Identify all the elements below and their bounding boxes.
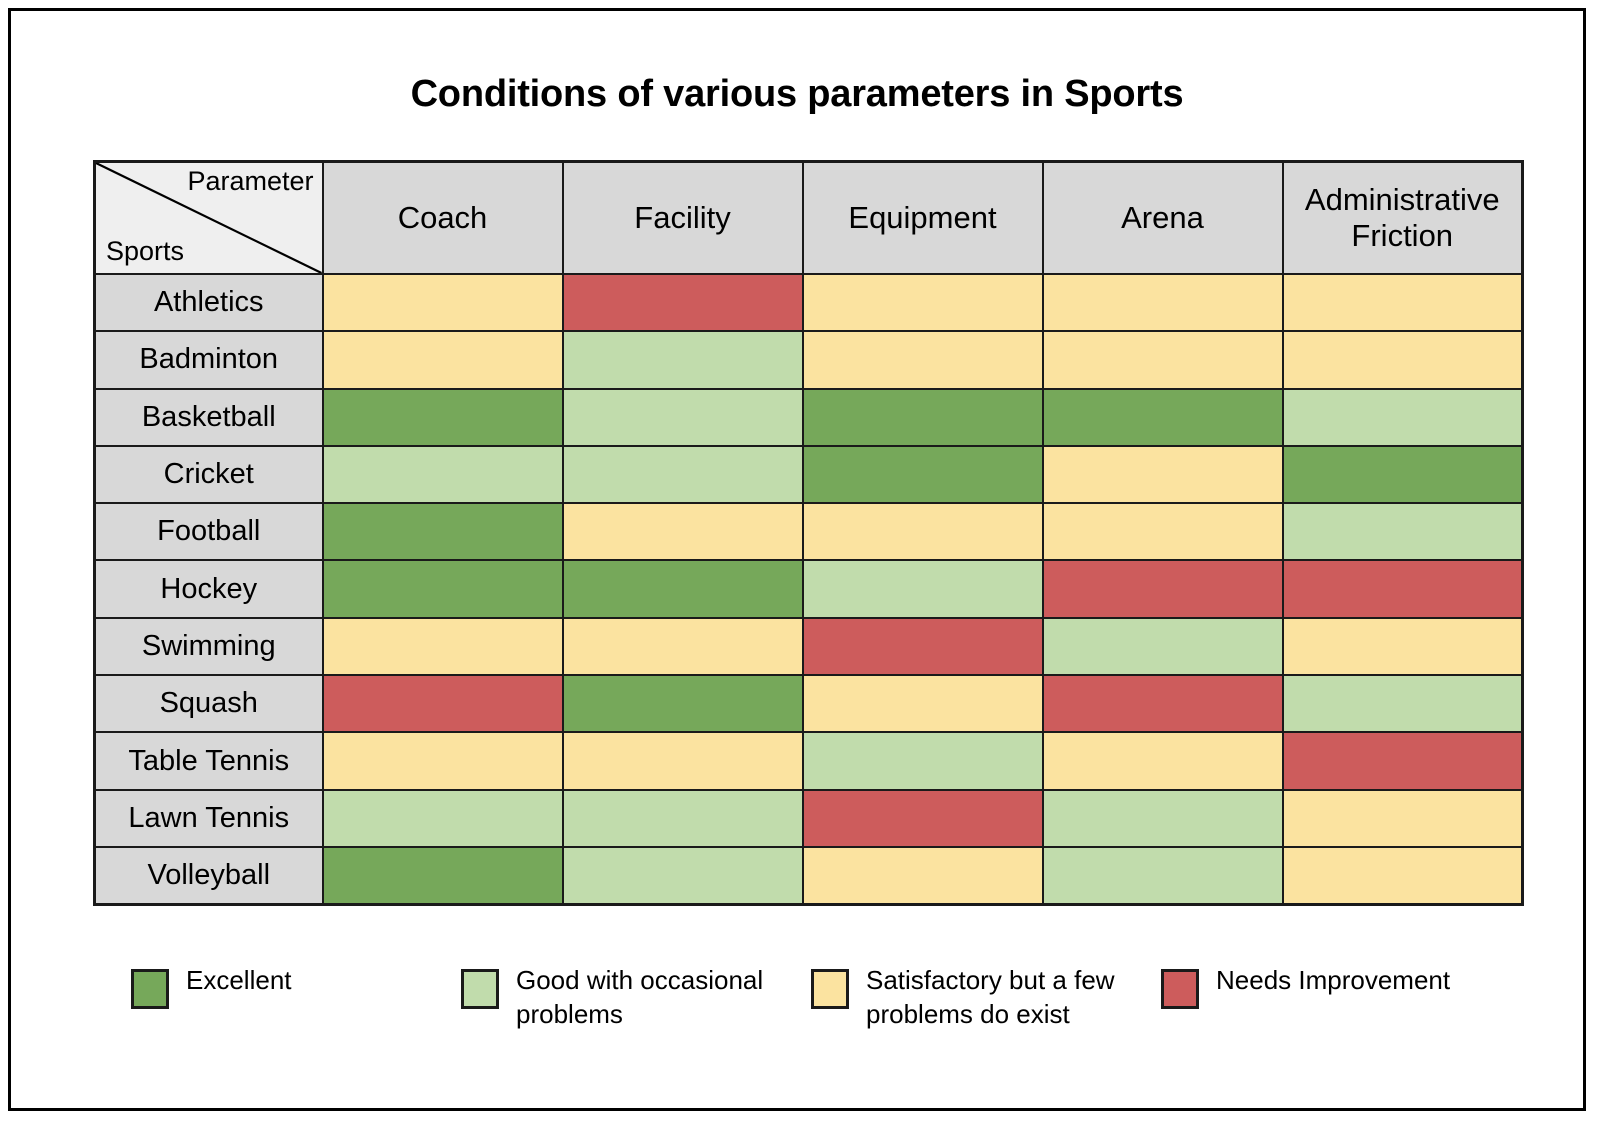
matrix-cell <box>323 732 563 789</box>
table-row: Basketball <box>95 389 1523 446</box>
column-header-coach: Coach <box>323 162 563 275</box>
conditions-matrix: Parameter Sports CoachFacilityEquipmentA… <box>93 160 1524 906</box>
row-header-basketball: Basketball <box>95 389 323 446</box>
matrix-cell <box>563 732 803 789</box>
matrix-container: Parameter Sports CoachFacilityEquipmentA… <box>93 160 1521 906</box>
row-header-hockey: Hockey <box>95 560 323 617</box>
matrix-cell <box>1043 389 1283 446</box>
column-header-facility: Facility <box>563 162 803 275</box>
matrix-cell <box>1043 446 1283 503</box>
row-header-football: Football <box>95 503 323 560</box>
legend-swatch-good <box>461 969 499 1009</box>
matrix-cell <box>803 389 1043 446</box>
table-row: Badminton <box>95 331 1523 388</box>
matrix-cell <box>323 790 563 847</box>
matrix-cell <box>563 446 803 503</box>
matrix-cell <box>1283 503 1523 560</box>
matrix-cell <box>1283 274 1523 331</box>
matrix-cell <box>323 503 563 560</box>
matrix-cell <box>803 618 1043 675</box>
matrix-cell <box>563 389 803 446</box>
page-frame: Conditions of various parameters in Spor… <box>8 8 1586 1111</box>
matrix-cell <box>563 560 803 617</box>
legend-label-needs: Needs Improvement <box>1216 963 1450 997</box>
matrix-cell <box>1283 446 1523 503</box>
matrix-cell <box>803 331 1043 388</box>
matrix-cell <box>323 618 563 675</box>
matrix-cell <box>323 446 563 503</box>
legend-swatch-needs <box>1161 969 1199 1009</box>
matrix-cell <box>803 675 1043 732</box>
row-header-badminton: Badminton <box>95 331 323 388</box>
table-row: Table Tennis <box>95 732 1523 789</box>
matrix-cell <box>1283 560 1523 617</box>
matrix-cell <box>323 389 563 446</box>
matrix-cell <box>563 618 803 675</box>
matrix-cell <box>323 847 563 905</box>
matrix-cell <box>803 446 1043 503</box>
table-row: Swimming <box>95 618 1523 675</box>
legend: ExcellentGood with occasional problemsSa… <box>131 963 1531 1032</box>
legend-swatch-excellent <box>131 969 169 1009</box>
matrix-cell <box>563 675 803 732</box>
matrix-cell <box>323 675 563 732</box>
matrix-header-row: Parameter Sports CoachFacilityEquipmentA… <box>95 162 1523 275</box>
matrix-cell <box>563 503 803 560</box>
matrix-cell <box>803 560 1043 617</box>
matrix-cell <box>1283 331 1523 388</box>
matrix-cell <box>323 560 563 617</box>
matrix-cell <box>1043 675 1283 732</box>
matrix-cell <box>323 331 563 388</box>
row-header-squash: Squash <box>95 675 323 732</box>
matrix-cell <box>1283 790 1523 847</box>
matrix-cell <box>1043 790 1283 847</box>
table-row: Hockey <box>95 560 1523 617</box>
table-row: Athletics <box>95 274 1523 331</box>
legend-label-satisfactory: Satisfactory but a few problems do exist <box>866 963 1151 1032</box>
row-header-lawn-tennis: Lawn Tennis <box>95 790 323 847</box>
matrix-cell <box>1283 389 1523 446</box>
matrix-cell <box>1043 503 1283 560</box>
matrix-cell <box>803 503 1043 560</box>
row-header-athletics: Athletics <box>95 274 323 331</box>
row-header-table-tennis: Table Tennis <box>95 732 323 789</box>
column-header-equipment: Equipment <box>803 162 1043 275</box>
table-row: Volleyball <box>95 847 1523 905</box>
row-header-cricket: Cricket <box>95 446 323 503</box>
matrix-cell <box>1043 560 1283 617</box>
legend-swatch-satisfactory <box>811 969 849 1009</box>
page-title: Conditions of various parameters in Spor… <box>11 73 1583 116</box>
row-axis-label: Sports <box>106 237 184 267</box>
matrix-cell <box>323 274 563 331</box>
matrix-cell <box>1283 847 1523 905</box>
corner-header-cell: Parameter Sports <box>95 162 323 275</box>
table-row: Squash <box>95 675 1523 732</box>
matrix-cell <box>803 790 1043 847</box>
matrix-cell <box>803 274 1043 331</box>
legend-item-satisfactory: Satisfactory but a few problems do exist <box>811 963 1161 1032</box>
table-row: Cricket <box>95 446 1523 503</box>
matrix-cell <box>1043 732 1283 789</box>
matrix-cell <box>563 847 803 905</box>
table-row: Football <box>95 503 1523 560</box>
matrix-cell <box>1283 675 1523 732</box>
legend-label-good: Good with occasional problems <box>516 963 801 1032</box>
legend-item-needs: Needs Improvement <box>1161 963 1491 1009</box>
matrix-cell <box>563 790 803 847</box>
legend-label-excellent: Excellent <box>186 963 292 997</box>
matrix-cell <box>1043 618 1283 675</box>
matrix-cell <box>1043 274 1283 331</box>
matrix-cell <box>803 847 1043 905</box>
matrix-cell <box>1043 847 1283 905</box>
column-header-arena: Arena <box>1043 162 1283 275</box>
column-axis-label: Parameter <box>187 167 313 197</box>
matrix-cell <box>1283 732 1523 789</box>
matrix-cell <box>803 732 1043 789</box>
table-row: Lawn Tennis <box>95 790 1523 847</box>
legend-item-excellent: Excellent <box>131 963 461 1009</box>
legend-item-good: Good with occasional problems <box>461 963 811 1032</box>
matrix-cell <box>563 331 803 388</box>
matrix-cell <box>1283 618 1523 675</box>
matrix-cell <box>1043 331 1283 388</box>
column-header-administrative-friction: Administrative Friction <box>1283 162 1523 275</box>
matrix-cell <box>563 274 803 331</box>
row-header-swimming: Swimming <box>95 618 323 675</box>
row-header-volleyball: Volleyball <box>95 847 323 905</box>
